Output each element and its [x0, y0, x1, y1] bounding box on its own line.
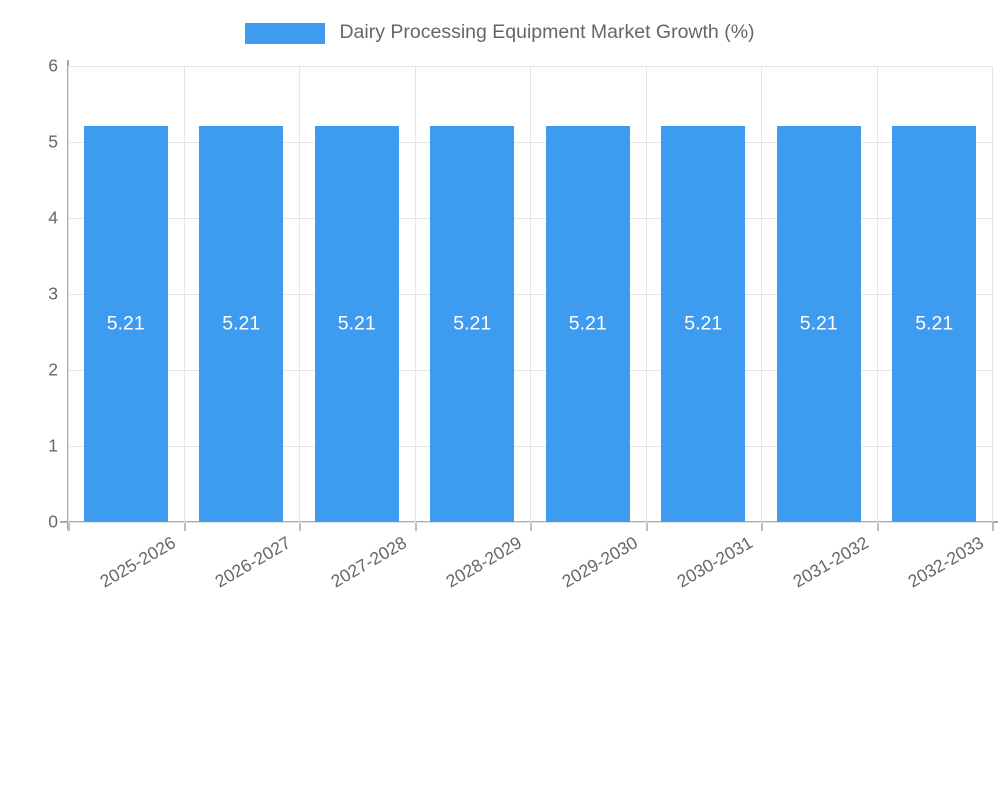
- x-axis-tick-mark: [530, 523, 532, 531]
- x-axis-tick-label: 2028-2029: [80, 534, 525, 801]
- x-axis-tick-label: 2032-2033: [542, 534, 987, 801]
- x-axis-tick-label: 2029-2030: [195, 534, 640, 801]
- x-axis-tick-mark: [646, 523, 648, 531]
- x-axis-tick-mark: [184, 523, 186, 531]
- bar-chart: Dairy Processing Equipment Market Growth…: [0, 0, 1000, 600]
- x-axis-tick-labels: 2025-20262026-20272027-20282028-20292029…: [0, 0, 1000, 600]
- x-axis-tick-label: 2030-2031: [311, 534, 756, 801]
- x-axis-tick-mark: [68, 523, 70, 531]
- x-axis-tick-mark: [299, 523, 301, 531]
- x-axis-tick-mark: [415, 523, 417, 531]
- x-axis-tick-mark: [992, 523, 994, 531]
- x-axis-tick-mark: [761, 523, 763, 531]
- x-axis-tick-mark: [877, 523, 879, 531]
- x-axis-tick-label: 2031-2032: [426, 534, 871, 801]
